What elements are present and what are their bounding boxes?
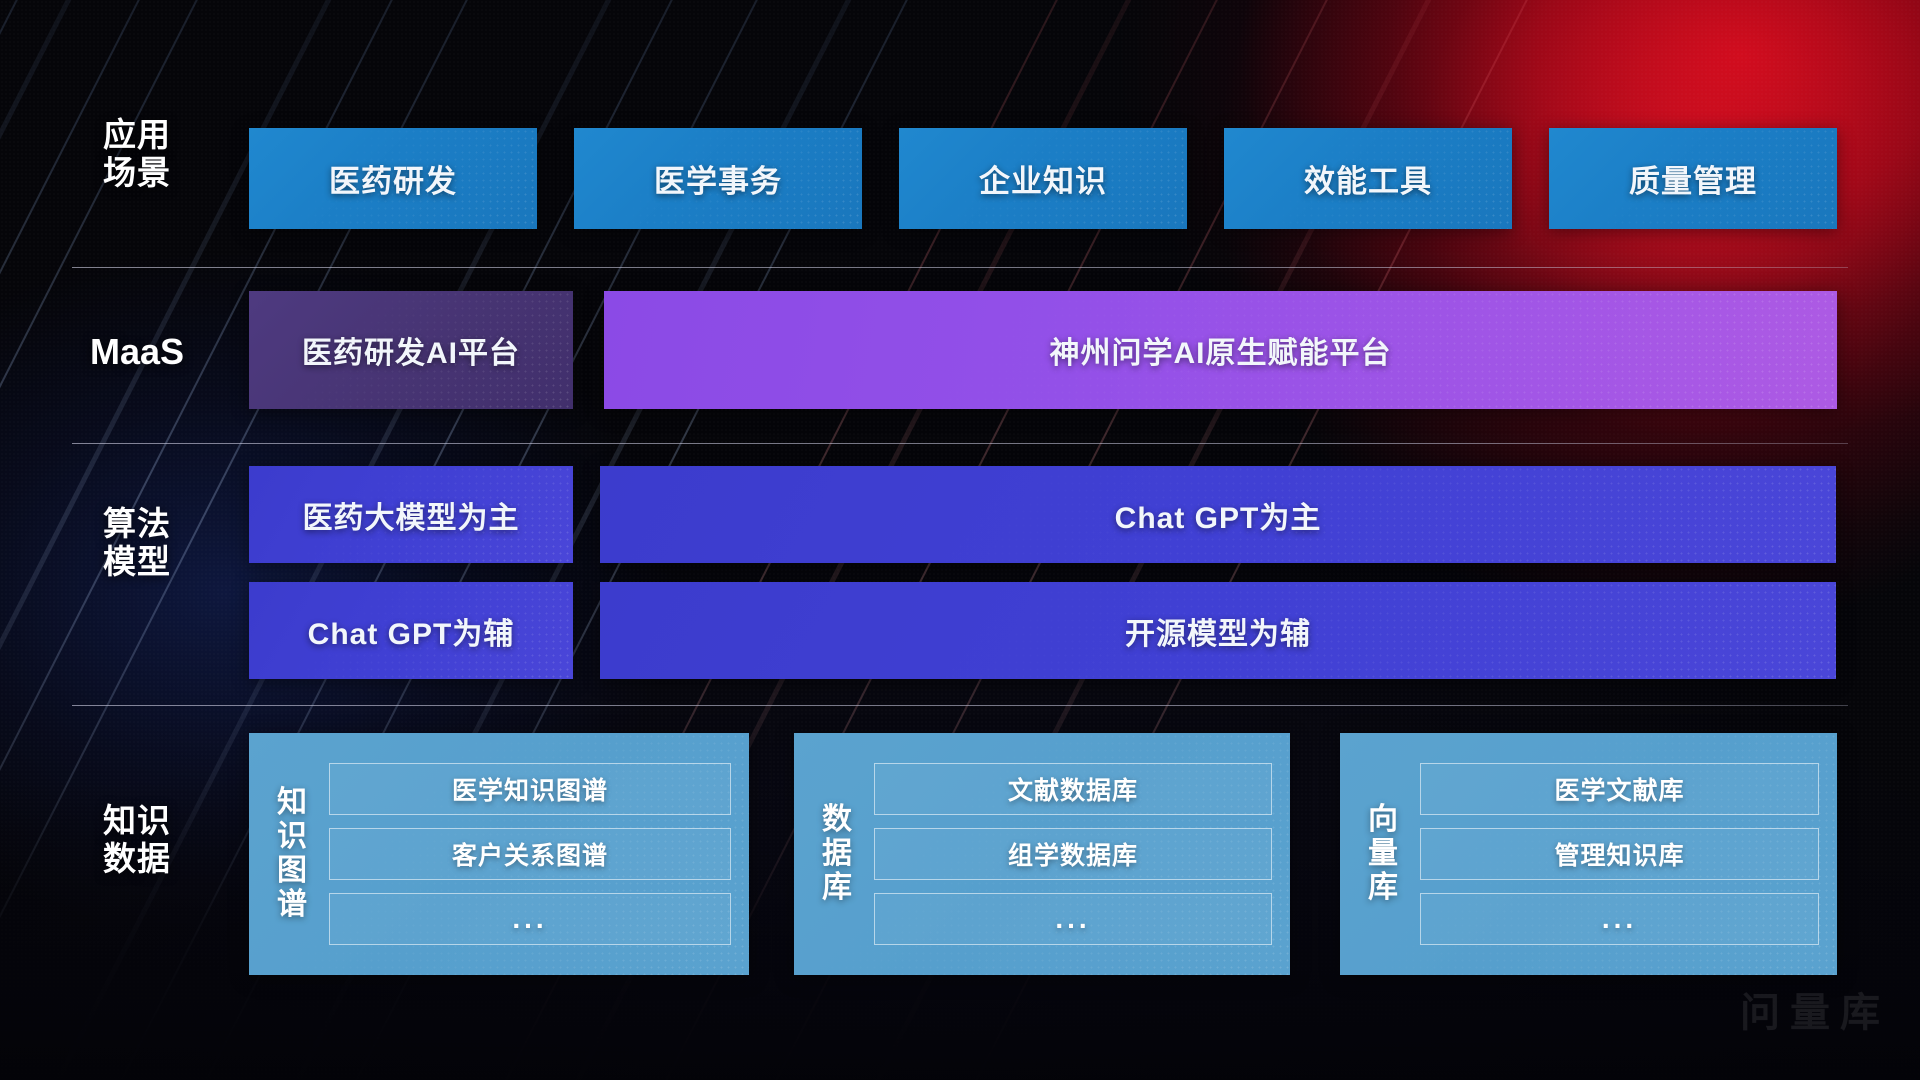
knowledge-item[interactable]: 医学文献库 bbox=[1420, 763, 1819, 815]
algo-box-opensource-model-secondary[interactable]: 开源模型为辅 bbox=[600, 582, 1836, 679]
maas-box-label: 医药研发AI平台 bbox=[302, 328, 520, 372]
knowledge-panel-label: 数 据 库 bbox=[816, 803, 860, 905]
divider-3 bbox=[72, 705, 1848, 706]
algo-box-label: 开源模型为辅 bbox=[1125, 609, 1311, 653]
knowledge-item[interactable]: 文献数据库 bbox=[874, 763, 1272, 815]
app-box-label: 效能工具 bbox=[1304, 156, 1432, 201]
knowledge-item[interactable]: 管理知识库 bbox=[1420, 828, 1819, 880]
algo-box-label: Chat GPT为辅 bbox=[308, 609, 515, 653]
diagram-stage: 应用 场景 医药研发 医学事务 企业知识 效能工具 质量管理 MaaS 医药研发… bbox=[0, 0, 1920, 1080]
knowledge-panel-knowledge-graph[interactable]: 知 识 图 谱 医学知识图谱 客户关系图谱 ... bbox=[249, 733, 749, 975]
row-label-knowledge-data: 知识 数据 bbox=[72, 802, 202, 879]
knowledge-item[interactable]: 客户关系图谱 bbox=[329, 828, 731, 880]
app-box-label: 企业知识 bbox=[979, 156, 1107, 201]
knowledge-item[interactable]: 医学知识图谱 bbox=[329, 763, 731, 815]
row-label-algorithm-model: 算法 模型 bbox=[72, 505, 202, 582]
algo-box-label: 医药大模型为主 bbox=[303, 493, 520, 537]
algo-box-label: Chat GPT为主 bbox=[1115, 493, 1322, 537]
knowledge-panel-items: 医学知识图谱 客户关系图谱 ... bbox=[329, 747, 749, 961]
knowledge-panel-label: 知 识 图 谱 bbox=[271, 786, 315, 922]
row-label-application-scenarios: 应用 场景 bbox=[72, 116, 202, 193]
knowledge-panel-items: 文献数据库 组学数据库 ... bbox=[874, 747, 1290, 961]
app-box-label: 医药研发 bbox=[329, 156, 457, 201]
knowledge-panel-database[interactable]: 数 据 库 文献数据库 组学数据库 ... bbox=[794, 733, 1290, 975]
knowledge-item[interactable]: 组学数据库 bbox=[874, 828, 1272, 880]
divider-2 bbox=[72, 443, 1848, 444]
maas-box-label: 神州问学AI原生赋能平台 bbox=[1050, 328, 1392, 372]
knowledge-panel-label: 向 量 库 bbox=[1362, 803, 1406, 905]
algo-box-medicine-large-model-primary[interactable]: 医药大模型为主 bbox=[249, 466, 573, 563]
maas-box-shenzhou-wenxue-platform[interactable]: 神州问学AI原生赋能平台 bbox=[604, 291, 1837, 409]
knowledge-item-more[interactable]: ... bbox=[1420, 893, 1819, 945]
app-box-enterprise-knowledge[interactable]: 企业知识 bbox=[899, 128, 1187, 229]
divider-1 bbox=[72, 267, 1848, 268]
knowledge-panel-vector-store[interactable]: 向 量 库 医学文献库 管理知识库 ... bbox=[1340, 733, 1837, 975]
maas-box-medicine-rd-ai-platform[interactable]: 医药研发AI平台 bbox=[249, 291, 573, 409]
watermark: 问量库 bbox=[1740, 980, 1890, 1038]
algo-box-chatgpt-secondary[interactable]: Chat GPT为辅 bbox=[249, 582, 573, 679]
knowledge-item-more[interactable]: ... bbox=[329, 893, 731, 945]
app-box-quality-management[interactable]: 质量管理 bbox=[1549, 128, 1837, 229]
app-box-label: 质量管理 bbox=[1629, 156, 1757, 201]
knowledge-item-more[interactable]: ... bbox=[874, 893, 1272, 945]
row-label-maas: MaaS bbox=[72, 331, 202, 373]
algo-box-chatgpt-primary[interactable]: Chat GPT为主 bbox=[600, 466, 1836, 563]
app-box-medicine-rd[interactable]: 医药研发 bbox=[249, 128, 537, 229]
knowledge-panel-items: 医学文献库 管理知识库 ... bbox=[1420, 747, 1837, 961]
app-box-label: 医学事务 bbox=[654, 156, 782, 201]
app-box-medical-affairs[interactable]: 医学事务 bbox=[574, 128, 862, 229]
app-box-efficiency-tools[interactable]: 效能工具 bbox=[1224, 128, 1512, 229]
